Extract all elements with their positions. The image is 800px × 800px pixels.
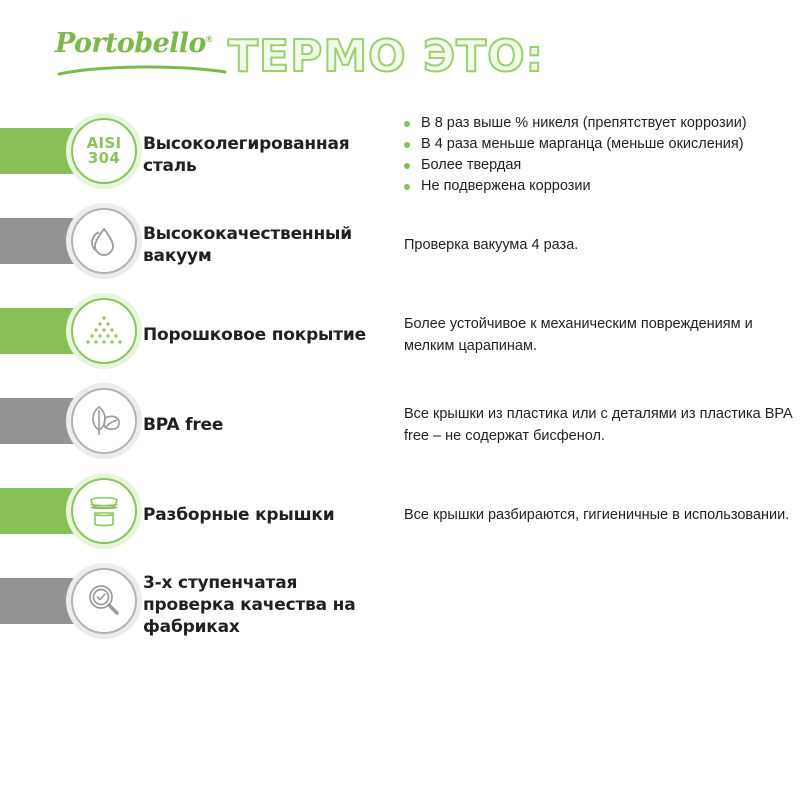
registered-trademark-icon: ® — [206, 34, 212, 44]
feature-title: Высококачественный вакуум — [143, 223, 393, 267]
lid-parts-icon — [71, 478, 137, 544]
feature-title: Порошковое покрытие — [143, 324, 393, 346]
feature-description: Все крышки из пластика или с деталями из… — [404, 403, 796, 447]
feature-row: BPA free Все крышки из пластика или с де… — [0, 380, 800, 470]
aisi-304-badge-icon: AISI 304 — [71, 118, 137, 184]
brand-logo: Portobello® — [55, 30, 235, 88]
feature-bullet-list: В 8 раз выше % никеля (препятствует корр… — [404, 113, 796, 197]
feature-title: BPA free — [143, 414, 393, 436]
feature-description: Более устойчивое к механическим поврежде… — [404, 313, 796, 357]
feature-body: Все крышки разбираются, гигиеничные в ис… — [404, 504, 796, 526]
feature-title: 3-х ступенчатая проверка качества на фаб… — [143, 572, 393, 638]
brand-logo-wordmark: Portobello® — [55, 30, 235, 57]
badge-text: AISI 304 — [87, 136, 122, 166]
feature-title: Высоколегированная сталь — [143, 133, 393, 177]
water-drop-icon — [71, 208, 137, 274]
brand-logo-text: Portobello — [55, 28, 206, 59]
leaves-icon — [71, 388, 137, 454]
feature-row: AISI 304 Высоколегированная сталь В 8 ра… — [0, 110, 800, 200]
feature-body: Проверка вакуума 4 раза. — [404, 234, 796, 256]
feature-body: В 8 раз выше % никеля (препятствует корр… — [404, 113, 796, 197]
logo-swoosh-icon — [57, 63, 229, 76]
feature-body: Все крышки из пластика или с деталями из… — [404, 403, 796, 447]
feature-list: AISI 304 Высоколегированная сталь В 8 ра… — [0, 110, 800, 650]
badge-line-2: 304 — [87, 151, 122, 166]
list-item: В 8 раз выше % никеля (препятствует корр… — [404, 113, 796, 134]
feature-row: Высококачественный вакуум Проверка вакуу… — [0, 200, 800, 290]
page-title-text: ТЕРМО ЭТО: — [228, 26, 558, 88]
feature-row: 3-х ступенчатая проверка качества на фаб… — [0, 560, 800, 650]
feature-description: Все крышки разбираются, гигиеничные в ис… — [404, 504, 796, 526]
list-item: В 4 раза меньше марганца (меньше окислен… — [404, 134, 796, 155]
feature-body: Более устойчивое к механическим поврежде… — [404, 313, 796, 357]
feature-description: Проверка вакуума 4 раза. — [404, 234, 796, 256]
feature-row: Порошковое покрытие Более устойчивое к м… — [0, 290, 800, 380]
magnifier-check-icon — [71, 568, 137, 634]
feature-row: Разборные крышки Все крышки разбираются,… — [0, 470, 800, 560]
page-header: Portobello® ТЕРМО ЭТО: — [0, 0, 800, 110]
list-item: Более твердая — [404, 155, 796, 176]
page-title: ТЕРМО ЭТО: — [228, 26, 558, 88]
feature-title: Разборные крышки — [143, 504, 393, 526]
list-item: Не подвержена коррозии — [404, 176, 796, 197]
powder-dots-icon — [71, 298, 137, 364]
